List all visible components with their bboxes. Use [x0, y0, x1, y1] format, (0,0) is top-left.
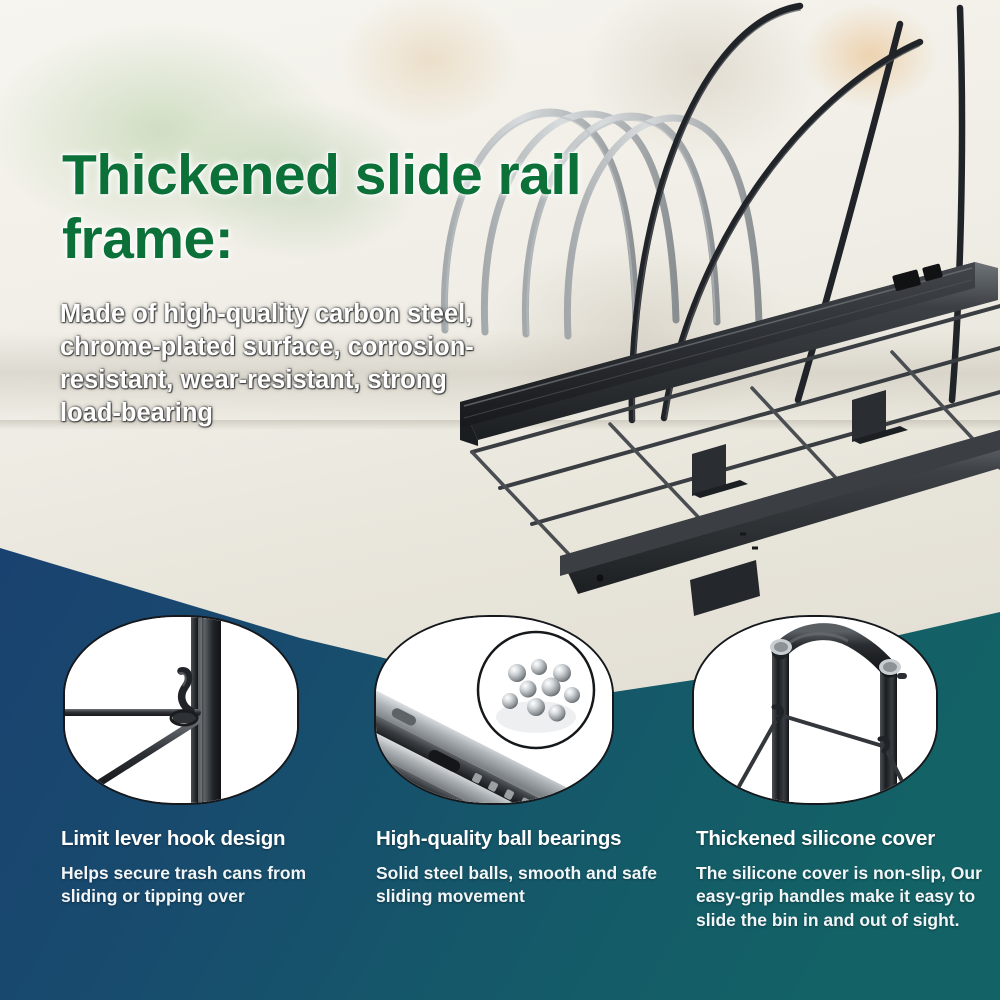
feature-body: Solid steel balls, smooth and safe slidi… — [370, 862, 670, 909]
feature-title: High-quality ball bearings — [370, 827, 680, 851]
feature-body: Helps secure trash cans from sliding or … — [55, 862, 355, 909]
limit-lever-hook-image — [63, 615, 299, 805]
ball-bearings-image — [374, 615, 614, 805]
page-title: Thickened slide rail frame: — [62, 143, 662, 272]
feature-body: The silicone cover is non-slip, Our easy… — [690, 862, 994, 932]
page-subtitle: Made of high-quality carbon steel, chrom… — [60, 298, 490, 431]
feature-item-limit-lever-hook: Limit lever hook design Helps secure tra… — [55, 615, 365, 909]
feature-title: Limit lever hook design — [55, 827, 365, 851]
infographic-page: Thickened slide rail frame: Made of high… — [0, 0, 1000, 1000]
feature-list: Limit lever hook design Helps secure tra… — [0, 615, 1000, 1000]
silicone-cover-image — [692, 615, 938, 805]
feature-title: Thickened silicone cover — [690, 827, 1000, 851]
feature-item-ball-bearings: High-quality ball bearings Solid steel b… — [370, 615, 680, 909]
feature-item-silicone-cover: Thickened silicone cover The silicone co… — [690, 615, 1000, 932]
